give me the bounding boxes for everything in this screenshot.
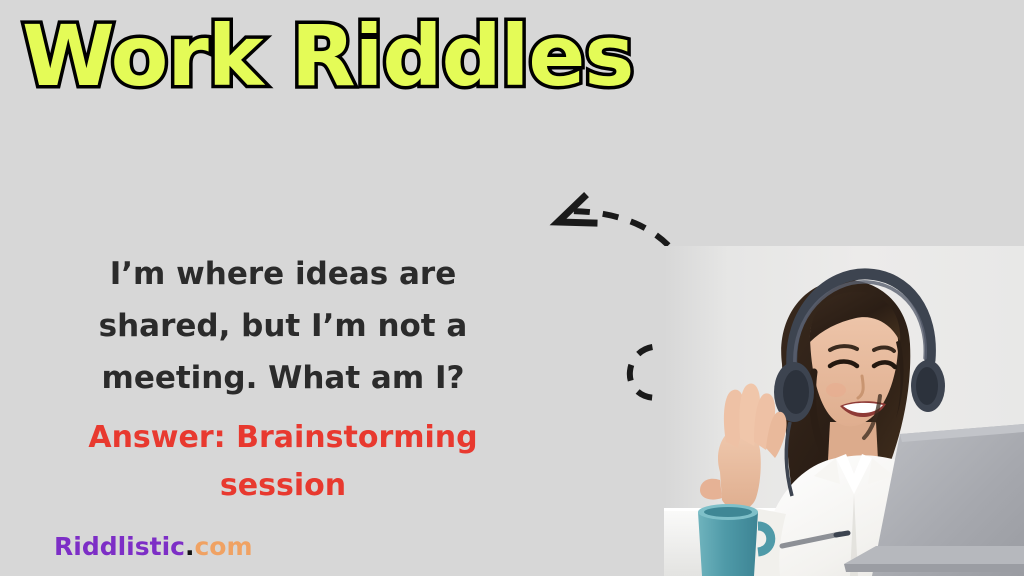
brand-name: Riddlistic — [54, 532, 185, 561]
riddle-poster: Work Riddles I’m where ideas are shared,… — [0, 0, 1024, 576]
riddle-question-block: I’m where ideas are shared, but I’m not … — [48, 248, 518, 404]
riddle-question-text: I’m where ideas are shared, but I’m not … — [48, 248, 518, 404]
riddle-answer-text: Answer: Brainstorming session — [48, 414, 518, 510]
photo-woman-at-desk — [664, 246, 1024, 576]
brand-watermark: Riddlistic.com — [54, 531, 253, 563]
brand-tld: com — [194, 532, 252, 561]
page-title: Work Riddles — [22, 8, 633, 104]
riddle-answer-block: Answer: Brainstorming session — [48, 414, 518, 510]
